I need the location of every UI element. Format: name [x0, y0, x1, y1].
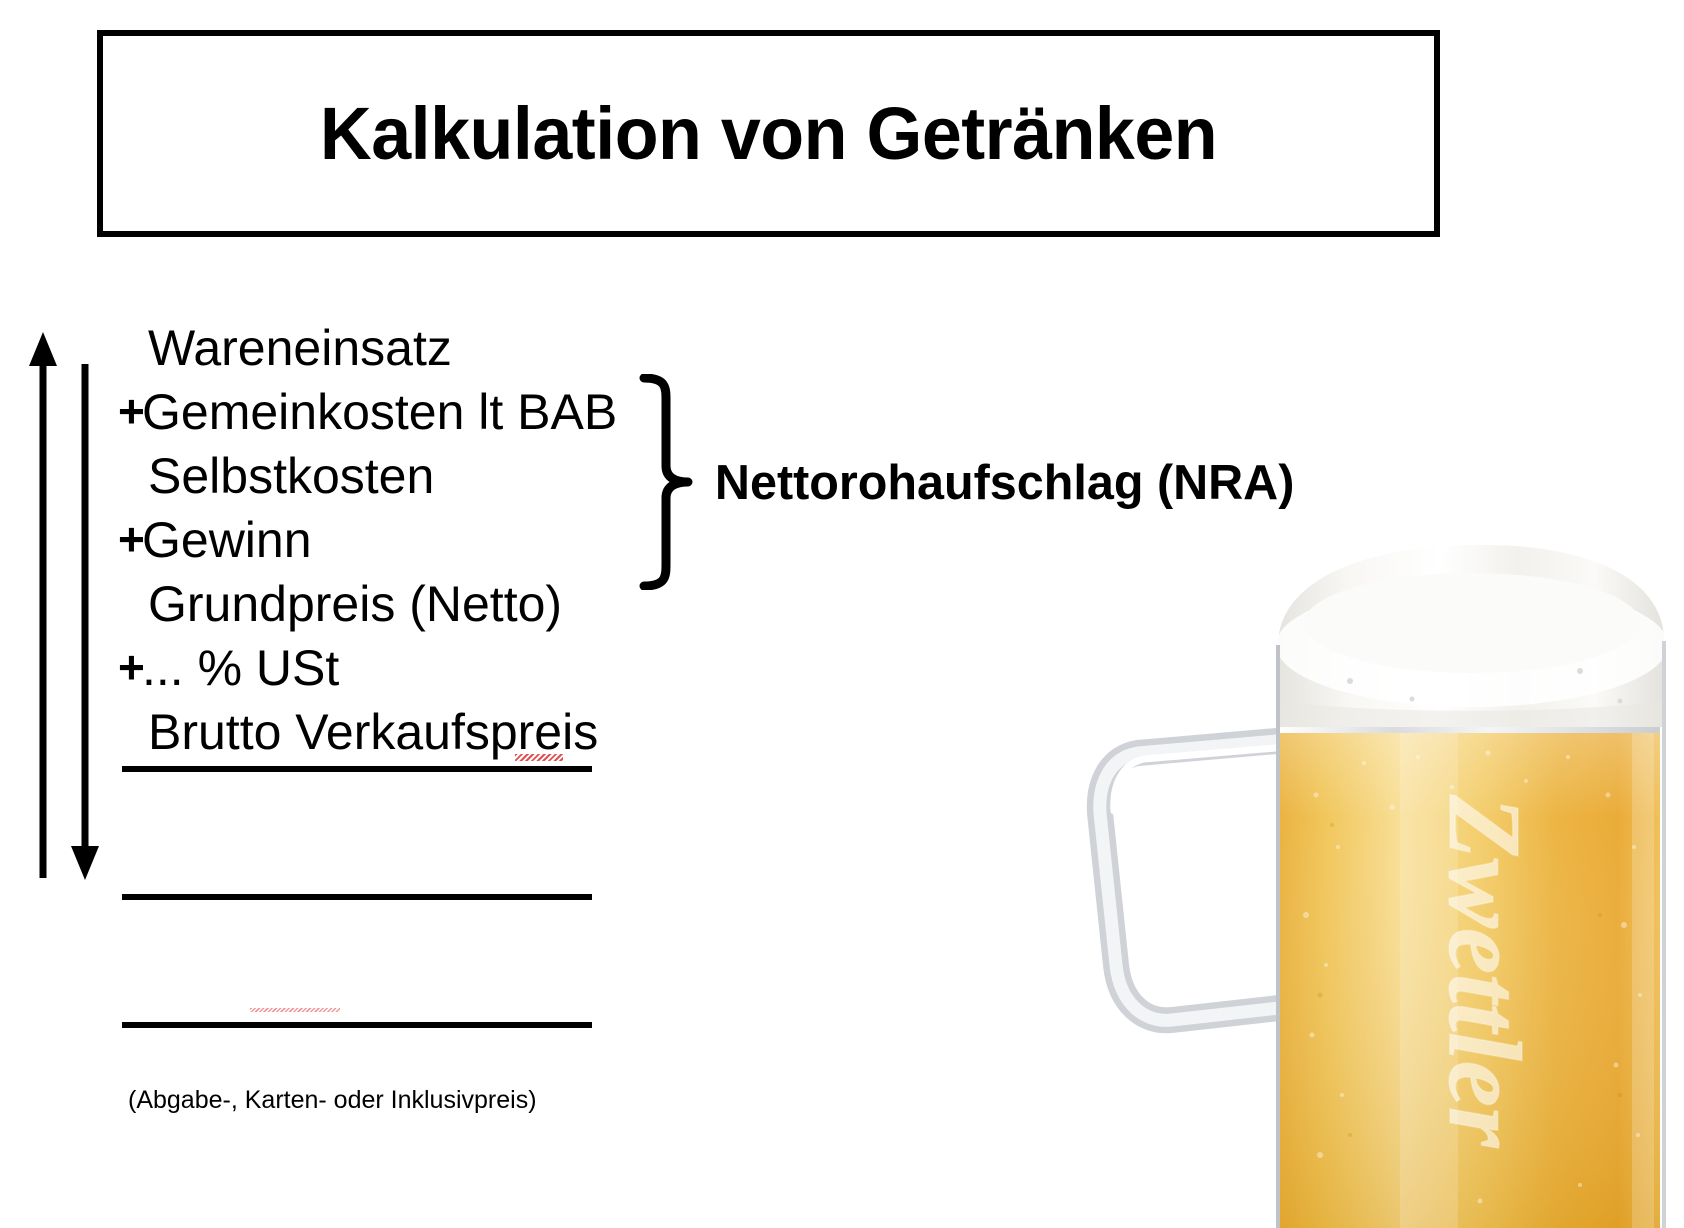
right-curly-brace-icon [636, 374, 716, 590]
calc-row: + ... % USt [110, 642, 730, 706]
calc-label-grundpreis: Grundpreis (Netto) [148, 578, 562, 631]
calc-label-gewinn: Gewinn [142, 514, 312, 567]
calc-row: Brutto Verkaufspreis [110, 706, 730, 770]
sum-rule [122, 766, 592, 772]
calc-label-ust: ... % USt [142, 642, 339, 695]
spellcheck-squiggle [515, 754, 563, 761]
svg-text:Zwettler: Zwettler [1427, 794, 1542, 1149]
sum-rule [122, 894, 592, 900]
calc-label-selbstkosten: Selbstkosten [148, 450, 434, 503]
arrow-up-icon [29, 332, 57, 878]
spellcheck-squiggle [250, 1008, 340, 1012]
mug-brand-text: Zwettler [1427, 794, 1542, 1149]
beer-foam [1276, 545, 1668, 727]
sum-rule [122, 1022, 592, 1028]
operator-sign: + [118, 388, 145, 434]
title-box: Kalkulation von Getränken [97, 30, 1440, 237]
calc-footnote: (Abgabe-, Karten- oder Inklusivpreis) [128, 1086, 537, 1115]
arrow-down-icon [71, 364, 99, 880]
page-title: Kalkulation von Getränken [320, 97, 1217, 171]
operator-sign: + [118, 644, 145, 690]
mug-handle-icon [1100, 740, 1288, 1020]
beer-mug-photo: Zwettler [1020, 495, 1684, 1228]
slide-canvas: Kalkulation von Getränken Wareneinsatz +… [0, 0, 1684, 1228]
calc-label-bruttoverkaufspreis: Brutto Verkaufspreis [148, 706, 598, 759]
calc-label-gemeinkosten: Gemeinkosten lt BAB [142, 386, 617, 439]
calc-label-wareneinsatz: Wareneinsatz [148, 322, 452, 375]
operator-sign: + [118, 516, 145, 562]
